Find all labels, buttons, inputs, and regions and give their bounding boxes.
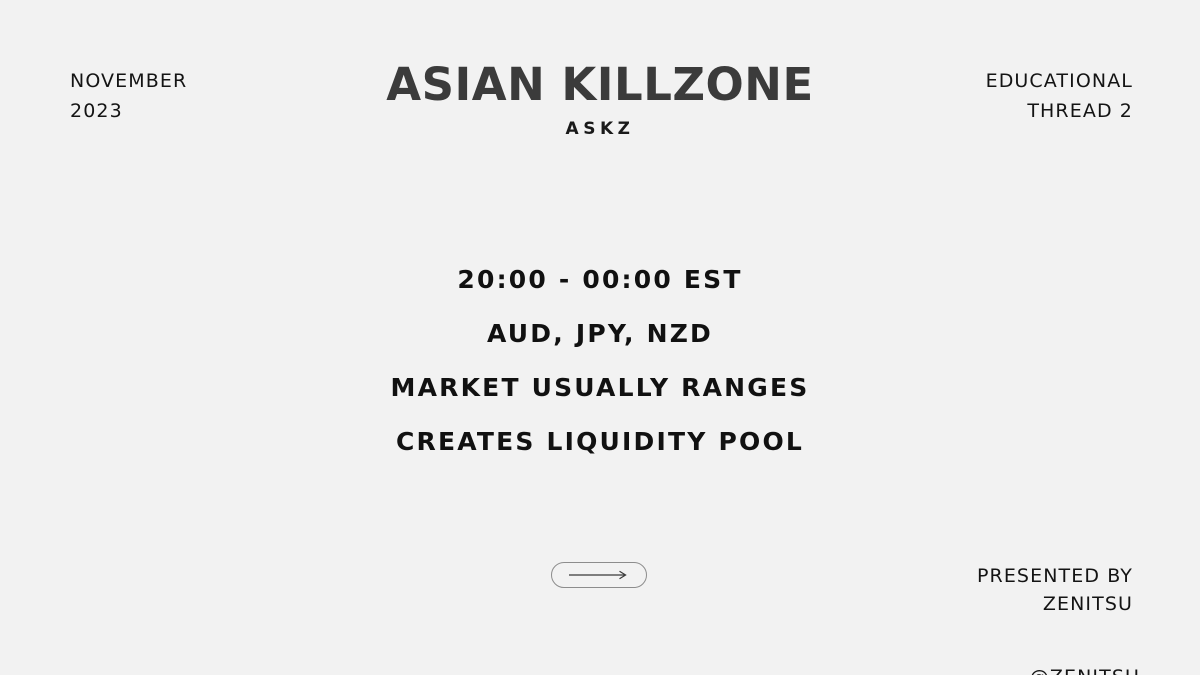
body-content: 20:00 - 00:00 EST AUD, JPY, NZD MARKET U… (0, 253, 1200, 469)
series-line-2: THREAD 2 (986, 96, 1133, 126)
presented-by-label: PRESENTED BY (977, 562, 1133, 590)
body-line-market-behavior: MARKET USUALLY RANGES (0, 361, 1200, 415)
series-line-1: EDUCATIONAL (986, 66, 1133, 96)
presented-by: PRESENTED BY ZENITSU (977, 562, 1133, 618)
series-label: EDUCATIONAL THREAD 2 (986, 66, 1133, 126)
body-line-session-time: 20:00 - 00:00 EST (0, 253, 1200, 307)
arrow-right-icon (568, 569, 630, 581)
body-line-liquidity: CREATES LIQUIDITY POOL (0, 415, 1200, 469)
presenter-name: ZENITSU (977, 590, 1133, 618)
next-slide-button[interactable] (551, 562, 647, 588)
body-line-currencies: AUD, JPY, NZD (0, 307, 1200, 361)
slide-canvas: NOVEMBER 2023 ASIAN KILLZONE ASKZ EDUCAT… (0, 0, 1200, 675)
author-handle: @ZENITSU (1030, 663, 1140, 675)
